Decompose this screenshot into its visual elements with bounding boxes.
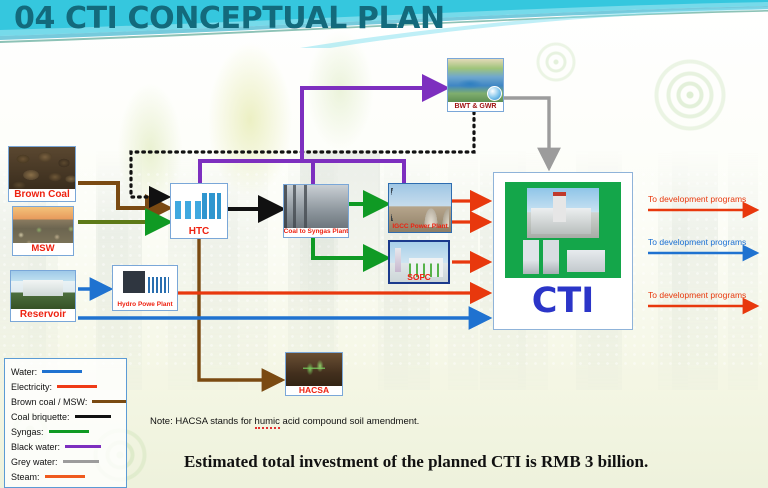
bwt-gwr-image	[448, 59, 503, 102]
investment-statement: Estimated total investment of the planne…	[184, 452, 648, 472]
htc-image	[171, 184, 227, 226]
legend-label-grey-water: Grey water:	[11, 457, 58, 467]
legend-swatch-coal-briquette	[75, 415, 111, 418]
legend-item-brown-coal-msw: Brown coal / MSW:	[11, 394, 126, 409]
node-label-igcc-power-plant: IGCC Power Plant	[389, 224, 451, 231]
node-label-coal-to-syngas-plant: Coal to Syngas Plant	[284, 228, 349, 237]
legend-swatch-steam	[45, 475, 85, 478]
legend-label-electricity: Electricity:	[11, 382, 52, 392]
node-msw[interactable]: MSW	[12, 206, 74, 256]
hydro-power-plant-image	[113, 266, 177, 301]
legend-swatch-black-water	[65, 445, 101, 448]
legend-item-grey-water: Grey water:	[11, 454, 126, 469]
node-sofc[interactable]: SOFC	[388, 240, 450, 284]
legend-label-brown-coal-msw: Brown coal / MSW:	[11, 397, 87, 407]
node-reservoir[interactable]: Reservoir	[10, 270, 76, 322]
hacsa-image	[286, 353, 342, 386]
node-label-msw: MSW	[31, 243, 54, 255]
node-label-hacsa: HACSA	[299, 386, 329, 395]
node-label-hydro-power-plant: Hydro Powe Plant	[117, 301, 172, 310]
node-bwt-gwr[interactable]: BWT & GWR	[447, 58, 504, 112]
legend-label-black-water: Black water:	[11, 442, 60, 452]
legend-label-coal-briquette: Coal briquette:	[11, 412, 70, 422]
legend-label-syngas: Syngas:	[11, 427, 44, 437]
legend-swatch-grey-water	[63, 460, 99, 463]
legend-swatch-brown-coal-msw	[92, 400, 126, 403]
node-hacsa[interactable]: HACSA	[285, 352, 343, 396]
output-label-3: To development programs	[648, 290, 746, 300]
brown-coal-image	[9, 147, 75, 189]
legend-item-syngas: Syngas:	[11, 424, 126, 439]
node-label-sofc: SOFC	[390, 273, 448, 282]
slide-canvas: 04 CTI CONCEPTUAL PLAN	[0, 0, 768, 488]
legend-swatch-electricity	[57, 385, 97, 388]
node-label-htc: HTC	[189, 226, 210, 239]
node-coal-to-syngas-plant[interactable]: Coal to Syngas Plant	[283, 184, 349, 238]
legend-item-steam: Steam:	[11, 469, 126, 484]
footnote: Note: HACSA stands for humic acid compou…	[150, 416, 419, 427]
msw-image	[13, 207, 73, 243]
node-cti[interactable]: CTI	[493, 172, 633, 330]
node-igcc-power-plant[interactable]: IGCC Power Plant	[388, 183, 452, 233]
cti-tanks-illustration	[523, 240, 607, 274]
output-label-1: To development programs	[648, 194, 746, 204]
node-label-cti: CTI	[532, 284, 595, 319]
node-label-brown-coal: Brown Coal	[14, 189, 70, 202]
legend-panel: Water: Electricity: Brown coal / MSW: Co…	[4, 358, 127, 488]
cti-plant-illustration	[527, 188, 599, 238]
output-label-2: To development programs	[648, 237, 746, 247]
legend-swatch-water	[42, 370, 82, 373]
node-brown-coal[interactable]: Brown Coal	[8, 146, 76, 202]
legend-swatch-syngas	[49, 430, 89, 433]
legend-label-steam: Steam:	[11, 472, 40, 482]
legend-item-coal-briquette: Coal briquette:	[11, 409, 126, 424]
water-globe-icon	[487, 86, 502, 101]
legend-item-electricity: Electricity:	[11, 379, 126, 394]
node-hydro-power-plant[interactable]: Hydro Powe Plant	[112, 265, 178, 311]
cti-image	[505, 182, 621, 278]
node-htc[interactable]: HTC	[170, 183, 228, 239]
legend-item-water: Water:	[11, 364, 126, 379]
reservoir-image	[11, 271, 75, 309]
legend-item-black-water: Black water:	[11, 439, 126, 454]
node-label-reservoir: Reservoir	[20, 309, 66, 322]
coal-to-syngas-plant-image	[284, 185, 348, 228]
node-label-bwt-gwr: BWT & GWR	[455, 102, 497, 111]
legend-label-water: Water:	[11, 367, 37, 377]
